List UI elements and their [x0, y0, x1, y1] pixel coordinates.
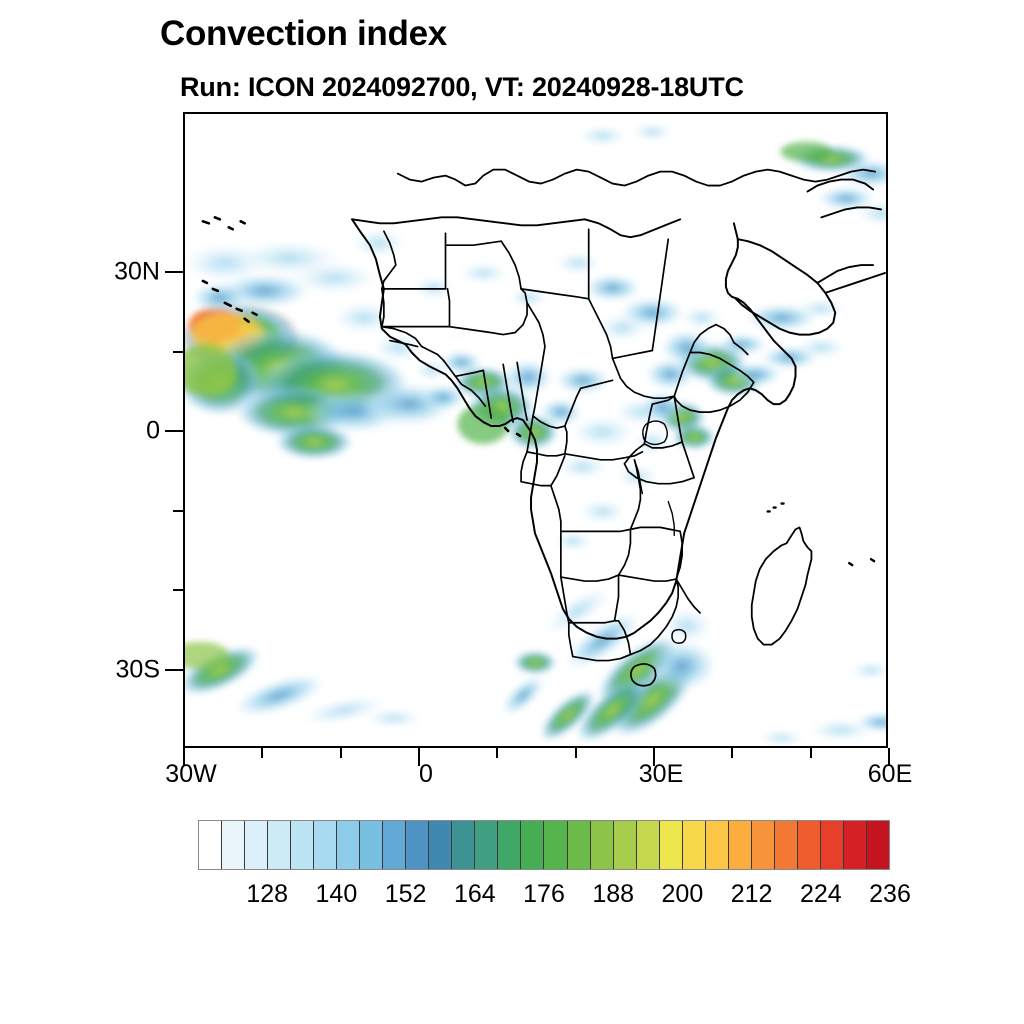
y-tick-equator: [165, 430, 183, 432]
y-tick-30s: [165, 669, 183, 671]
colorbar-cell-20: [660, 821, 683, 869]
colorbar-cell-17: [591, 821, 614, 869]
colorbar-cell-13: [498, 821, 521, 869]
chart-page: Convection index Run: ICON 2024092700, V…: [0, 0, 1024, 1024]
colorbar-cell-0: [199, 821, 222, 869]
colorbar-cell-8: [383, 821, 406, 869]
colorbar-cell-1: [222, 821, 245, 869]
colorbar-cell-24: [752, 821, 775, 869]
x-tick-20w: [261, 748, 263, 758]
x-tick-20e: [575, 748, 577, 758]
colorbar-tick-224: 224: [800, 880, 842, 909]
x-axis-label-0: 0: [419, 760, 433, 789]
colorbar-cell-3: [268, 821, 291, 869]
y-tick-30n: [165, 271, 183, 273]
colorbar-cell-7: [360, 821, 383, 869]
colorbar-tick-200: 200: [662, 880, 704, 909]
colorbar-cell-14: [521, 821, 544, 869]
y-tick-10s: [173, 510, 183, 512]
map-canvas: [185, 114, 886, 746]
colorbar-cell-26: [798, 821, 821, 869]
colorbar-tick-152: 152: [385, 880, 427, 909]
colorbar-cell-28: [844, 821, 867, 869]
x-tick-40e: [731, 748, 733, 758]
colorbar-cell-22: [706, 821, 729, 869]
colorbar-tick-236: 236: [869, 880, 911, 909]
colorbar-cell-12: [475, 821, 498, 869]
colorbar-cell-5: [314, 821, 337, 869]
colorbar-cell-10: [429, 821, 452, 869]
x-tick-10e: [496, 748, 498, 758]
colorbar-tick-212: 212: [731, 880, 773, 909]
colorbar-tick-164: 164: [454, 880, 496, 909]
x-tick-10w: [340, 748, 342, 758]
colorbar-cell-27: [821, 821, 844, 869]
y-axis-label-0: 0: [146, 417, 160, 446]
colorbar-tick-176: 176: [523, 880, 565, 909]
x-axis-label-60e: 60E: [868, 760, 912, 789]
colorbar-cell-29: [867, 821, 889, 869]
colorbar-cell-15: [544, 821, 567, 869]
y-axis-label-30n: 30N: [114, 258, 160, 287]
y-tick-20n: [173, 351, 183, 353]
map-plot-area: [183, 112, 888, 748]
colorbar-tick-labels: 128140152164176188200212224236: [0, 880, 1024, 920]
colorbar-cell-16: [568, 821, 591, 869]
colorbar-tick-188: 188: [592, 880, 634, 909]
colorbar-cell-18: [614, 821, 637, 869]
chart-subtitle: Run: ICON 2024092700, VT: 20240928-18UTC: [180, 72, 744, 103]
colorbar-cell-25: [775, 821, 798, 869]
colorbar-cell-6: [337, 821, 360, 869]
colorbar-cell-2: [245, 821, 268, 869]
colorbar-tick-128: 128: [246, 880, 288, 909]
page-title: Convection index: [160, 14, 447, 54]
colorbar-cell-19: [637, 821, 660, 869]
colorbar-tick-140: 140: [316, 880, 358, 909]
colorbar-cell-21: [683, 821, 706, 869]
convection-field: [185, 123, 886, 746]
colorbar-cell-9: [406, 821, 429, 869]
x-axis-label-30w: 30W: [165, 760, 216, 789]
colorbar-cell-4: [291, 821, 314, 869]
x-axis-label-30e: 30E: [639, 760, 683, 789]
y-tick-20s: [173, 589, 183, 591]
colorbar: [198, 820, 890, 870]
y-axis-label-30s: 30S: [116, 656, 160, 685]
colorbar-cell-11: [452, 821, 475, 869]
x-tick-50e: [810, 748, 812, 758]
colorbar-cell-23: [729, 821, 752, 869]
